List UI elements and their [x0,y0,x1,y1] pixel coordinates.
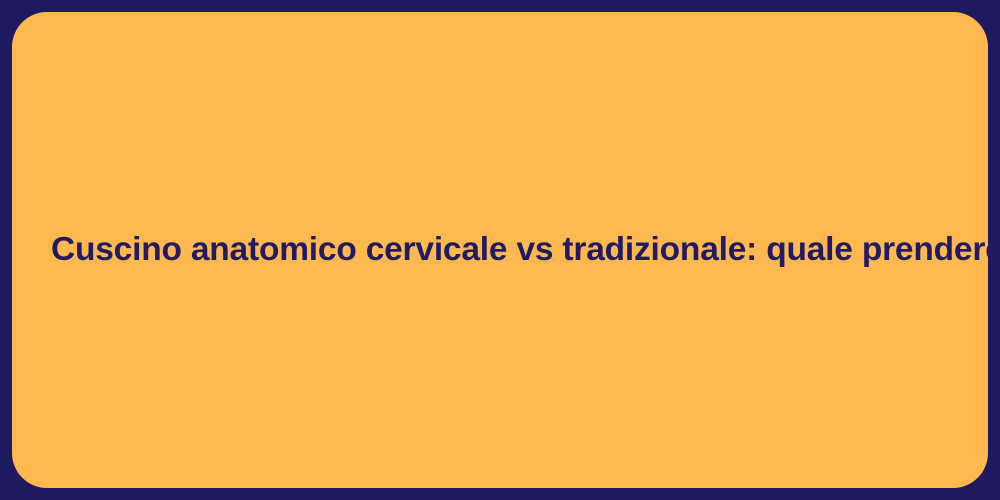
slide-canvas: Cuscino anatomico cervicale vs tradizion… [0,0,1000,500]
title-block: Cuscino anatomico cervicale vs tradizion… [12,230,988,270]
title-card-panel: Cuscino anatomico cervicale vs tradizion… [12,12,988,488]
page-title: Cuscino anatomico cervicale vs tradizion… [51,230,949,270]
